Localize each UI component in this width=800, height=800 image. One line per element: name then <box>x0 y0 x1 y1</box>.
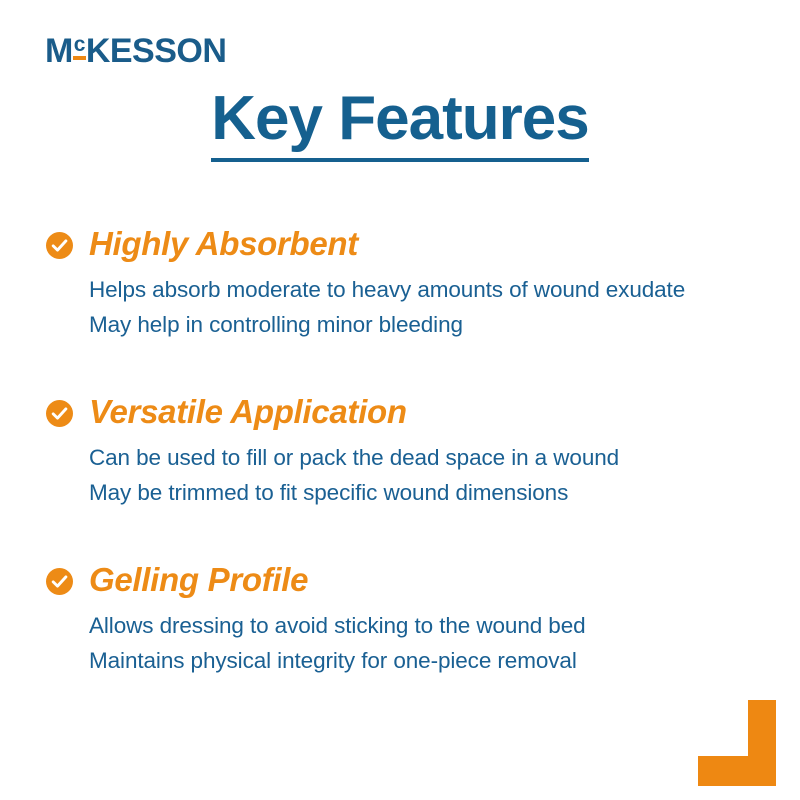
logo-wordmark-rest: KESSON <box>86 34 227 68</box>
feature-detail-lines: Allows dressing to avoid sticking to the… <box>89 608 766 678</box>
feature-item: Gelling Profile Allows dressing to avoid… <box>46 560 766 678</box>
feature-title: Gelling Profile <box>89 562 308 598</box>
check-circle-icon <box>46 568 73 595</box>
logo-orange-bar <box>73 56 86 60</box>
feature-list: Highly Absorbent Helps absorb moderate t… <box>46 224 766 678</box>
page-title: Key Features <box>211 86 588 152</box>
feature-detail-line: May be trimmed to fit specific wound dim… <box>89 475 766 510</box>
feature-detail-lines: Can be used to fill or pack the dead spa… <box>89 440 766 510</box>
feature-title: Highly Absorbent <box>89 226 358 262</box>
feature-heading-row: Highly Absorbent <box>46 224 766 264</box>
feature-item: Versatile Application Can be used to fil… <box>46 392 766 510</box>
feature-title: Versatile Application <box>89 394 407 430</box>
feature-detail-line: Can be used to fill or pack the dead spa… <box>89 440 766 475</box>
feature-item: Highly Absorbent Helps absorb moderate t… <box>46 224 766 342</box>
page-title-block: Key Features <box>0 86 800 162</box>
logo-letter-m: M <box>45 34 73 68</box>
check-circle-icon <box>46 232 73 259</box>
feature-heading-row: Versatile Application <box>46 392 766 432</box>
feature-detail-line: Allows dressing to avoid sticking to the… <box>89 608 766 643</box>
title-underline-rule <box>211 158 589 162</box>
logo-letter-c: c <box>74 35 85 55</box>
corner-bracket-icon <box>698 700 776 786</box>
feature-detail-line: Helps absorb moderate to heavy amounts o… <box>89 272 766 307</box>
logo-superscript-c: c <box>73 35 86 60</box>
feature-detail-lines: Helps absorb moderate to heavy amounts o… <box>89 272 766 342</box>
mckesson-logo: M c KESSON <box>45 34 226 68</box>
feature-heading-row: Gelling Profile <box>46 560 766 600</box>
feature-detail-line: May help in controlling minor bleeding <box>89 307 766 342</box>
check-circle-icon <box>46 400 73 427</box>
feature-detail-line: Maintains physical integrity for one-pie… <box>89 643 766 678</box>
